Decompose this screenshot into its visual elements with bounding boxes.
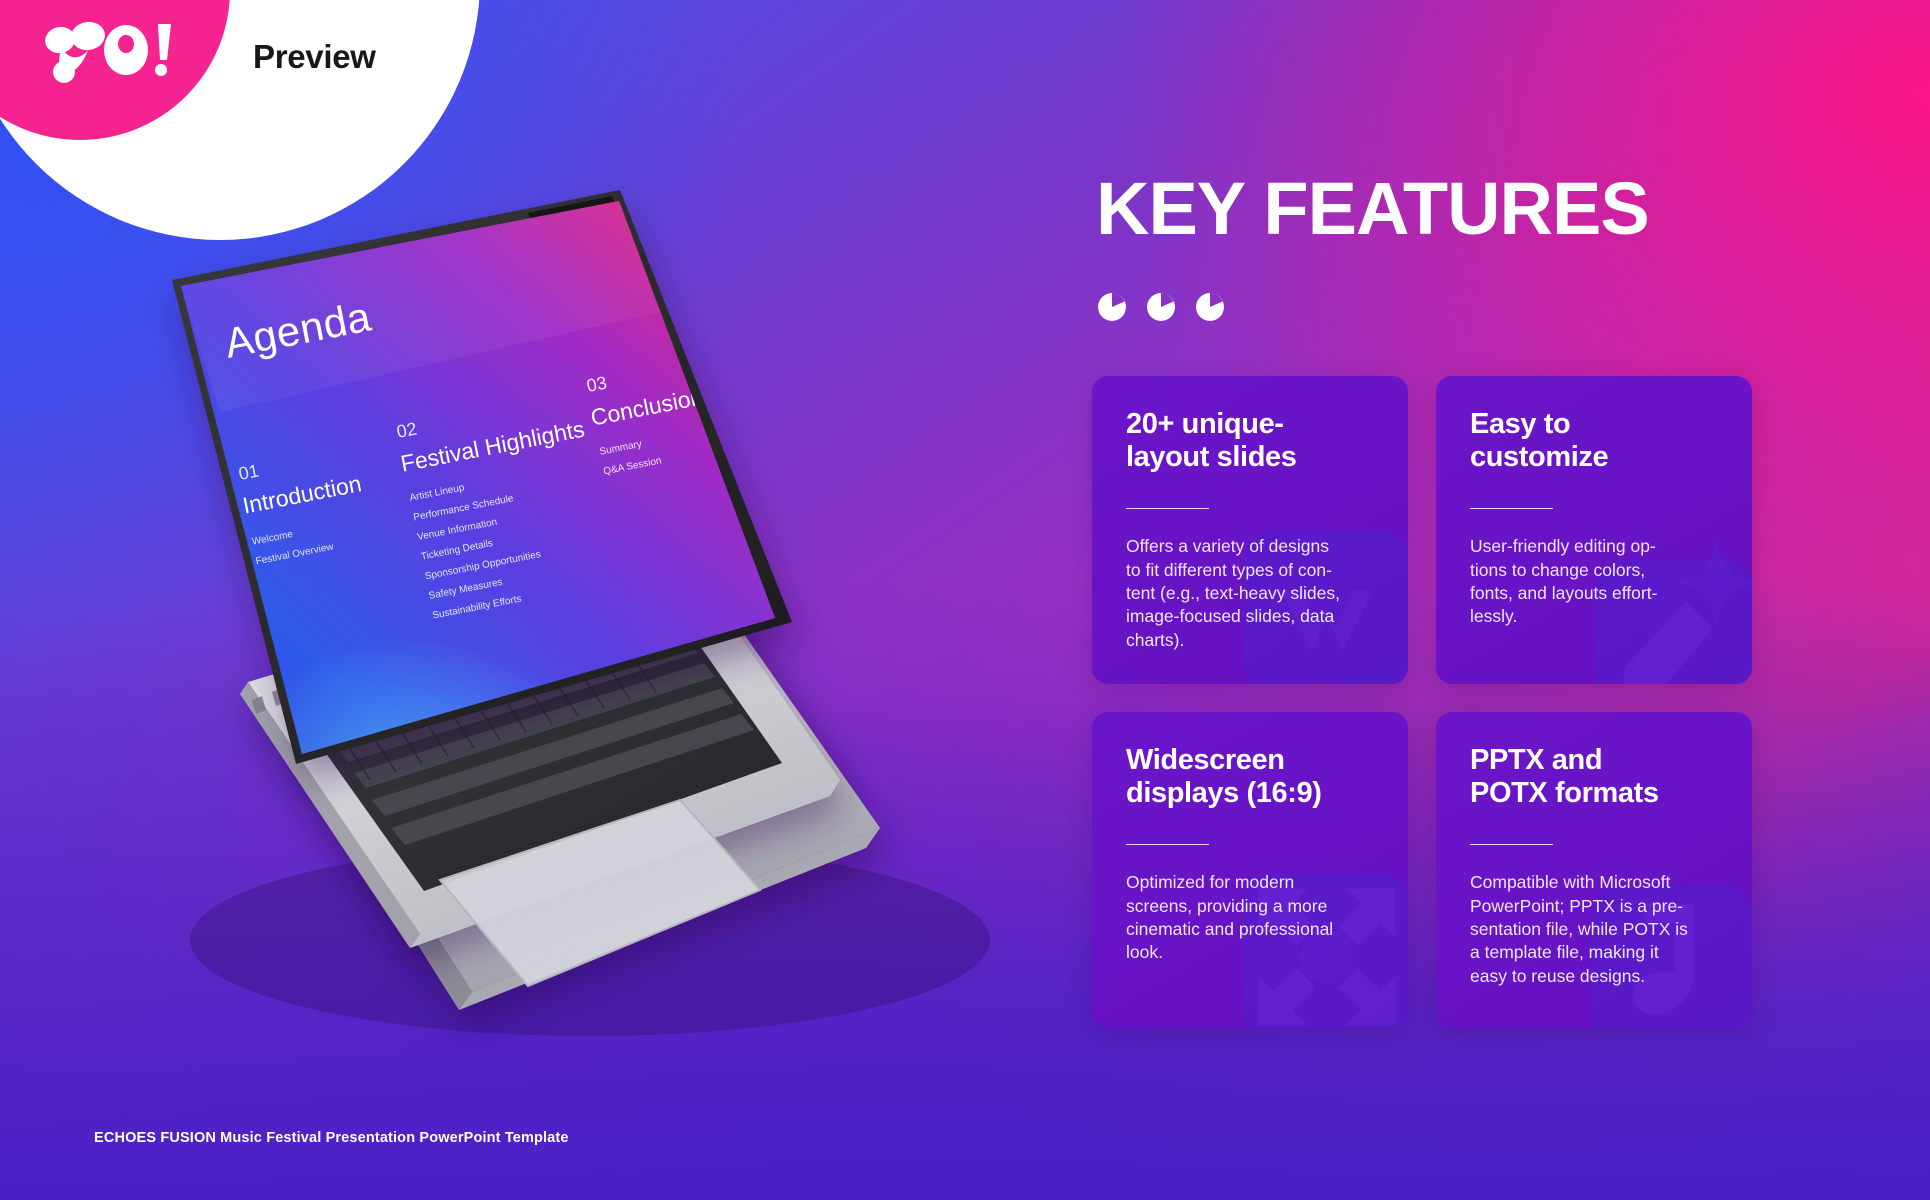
feature-card-grid: 20+ unique- layout slides Offers a varie… — [1092, 376, 1752, 1028]
yo-logo-icon — [30, 10, 190, 100]
feature-card-title: 20+ unique- layout slides — [1126, 408, 1376, 474]
feature-card-title: Widescreen displays (16:9) — [1126, 744, 1376, 810]
footer-caption: ECHOES FUSION Music Festival Presentatio… — [94, 1130, 569, 1146]
preview-label: Preview — [253, 38, 376, 76]
feature-card-body: Optimized for modern screens, providing … — [1126, 871, 1376, 965]
feature-card-unique-layouts[interactable]: 20+ unique- layout slides Offers a varie… — [1092, 376, 1408, 684]
brand-badge: Preview — [0, 0, 480, 240]
laptop-mockup: Agenda 01 Introduction Welcome Festival … — [120, 180, 1060, 1100]
page-title: KEY FEATURES — [1096, 172, 1649, 246]
feature-card-easy-customize[interactable]: Easy to customize User-friendly editing … — [1436, 376, 1752, 684]
laptop-mockup-icon: Agenda 01 Introduction Welcome Festival … — [120, 180, 1060, 1100]
quote-dot-icon — [1196, 293, 1224, 321]
quote-dots-decoration — [1098, 293, 1224, 321]
feature-card-widescreen[interactable]: Widescreen displays (16:9) Optimized for… — [1092, 712, 1408, 1028]
quote-dot-icon — [1147, 293, 1175, 321]
feature-card-body: User-friendly editing op- tions to chang… — [1470, 535, 1720, 629]
feature-card-title: Easy to customize — [1470, 408, 1720, 474]
feature-card-body: Compatible with Microsoft PowerPoint; PP… — [1470, 871, 1720, 988]
feature-card-pptx-potx[interactable]: PPTX and POTX formats Compatible with Mi… — [1436, 712, 1752, 1028]
card-divider — [1126, 508, 1209, 509]
features-panel: KEY FEATURES 20+ unique- layout slides — [1090, 0, 1880, 1200]
card-divider — [1126, 844, 1209, 845]
slide-section-number: 02 — [395, 418, 418, 441]
card-divider — [1470, 508, 1553, 509]
quote-dot-icon — [1098, 293, 1126, 321]
preview-canvas: Agenda 01 Introduction Welcome Festival … — [0, 0, 1930, 1200]
card-divider — [1470, 844, 1553, 845]
slide-section-number: 01 — [237, 460, 260, 483]
slide-section-number: 03 — [585, 372, 608, 395]
feature-card-body: Offers a variety of designs to fit diffe… — [1126, 535, 1376, 652]
feature-card-title: PPTX and POTX formats — [1470, 744, 1720, 810]
